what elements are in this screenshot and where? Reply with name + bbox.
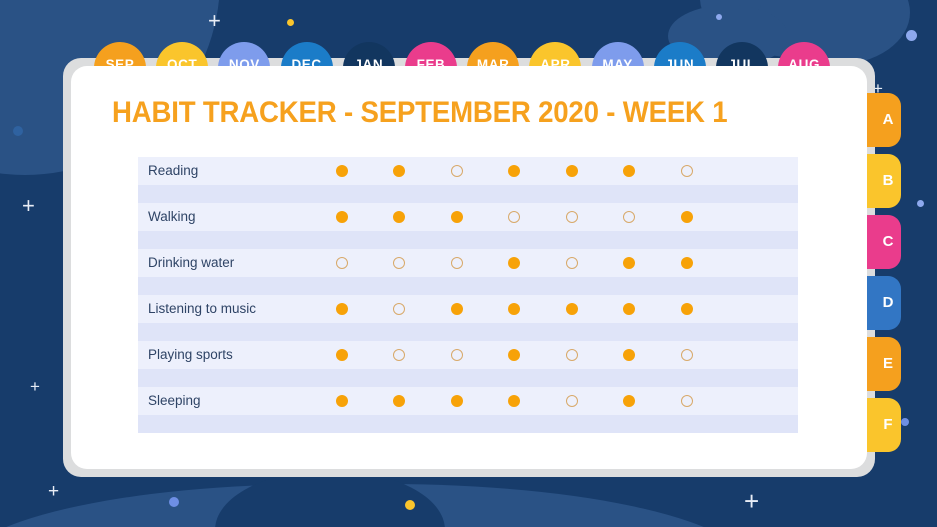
plus-icon: +: [744, 488, 759, 514]
habit-dot-filled-icon[interactable]: [393, 395, 405, 407]
habit-dot-filled-icon[interactable]: [623, 165, 635, 177]
habit-dot-filled-icon[interactable]: [508, 165, 520, 177]
habit-row: Listening to music: [138, 295, 798, 323]
side-tab-f[interactable]: F: [865, 398, 901, 452]
habit-day-cell[interactable]: [428, 303, 486, 315]
habit-dot-empty-icon[interactable]: [566, 257, 578, 269]
habit-dot-empty-icon[interactable]: [393, 303, 405, 315]
habit-dot-filled-icon[interactable]: [623, 395, 635, 407]
habit-dot-empty-icon[interactable]: [681, 349, 693, 361]
habit-row-spacer: [138, 415, 798, 433]
habit-dot-filled-icon[interactable]: [623, 349, 635, 361]
habit-day-cell[interactable]: [658, 211, 716, 223]
habit-day-cell[interactable]: [543, 303, 601, 315]
habit-day-cells: [313, 157, 716, 185]
side-tab-label: C: [883, 233, 894, 250]
habit-dot-filled-icon[interactable]: [566, 165, 578, 177]
habit-dot-filled-icon[interactable]: [336, 395, 348, 407]
habit-dot-empty-icon[interactable]: [681, 395, 693, 407]
habit-dot-empty-icon[interactable]: [451, 257, 463, 269]
habit-day-cell[interactable]: [601, 165, 659, 177]
habit-dot-empty-icon[interactable]: [566, 211, 578, 223]
habit-dot-filled-icon[interactable]: [336, 349, 348, 361]
habit-day-cell[interactable]: [428, 349, 486, 361]
habit-day-cell[interactable]: [601, 349, 659, 361]
habit-day-cell[interactable]: [601, 303, 659, 315]
habit-dot-empty-icon[interactable]: [451, 165, 463, 177]
habit-day-cell[interactable]: [601, 211, 659, 223]
circle-dot-icon: [716, 14, 722, 20]
habit-dot-filled-icon[interactable]: [681, 303, 693, 315]
habit-tracker-card: HABIT TRACKER - SEPTEMBER 2020 - WEEK 1 …: [71, 66, 867, 469]
habit-day-cells: [313, 387, 716, 415]
habit-day-cells: [313, 341, 716, 369]
habit-day-cell[interactable]: [486, 395, 544, 407]
habit-dot-filled-icon[interactable]: [336, 303, 348, 315]
habit-dot-filled-icon[interactable]: [451, 211, 463, 223]
habit-row: Sleeping: [138, 387, 798, 415]
habit-dot-filled-icon[interactable]: [451, 395, 463, 407]
side-tab-label: D: [883, 294, 894, 311]
habit-day-cell[interactable]: [313, 211, 371, 223]
habit-dot-empty-icon[interactable]: [623, 211, 635, 223]
habit-dot-empty-icon[interactable]: [336, 257, 348, 269]
circle-dot-icon: [13, 126, 23, 136]
habit-dot-empty-icon[interactable]: [566, 349, 578, 361]
habit-dot-empty-icon[interactable]: [681, 165, 693, 177]
habit-day-cell[interactable]: [371, 395, 429, 407]
habit-table: ReadingWalkingDrinking waterListening to…: [138, 157, 798, 433]
plus-icon: +: [48, 482, 59, 501]
habit-day-cell[interactable]: [486, 211, 544, 223]
habit-label: Reading: [148, 157, 198, 185]
plus-icon: +: [208, 10, 221, 32]
habit-dot-filled-icon[interactable]: [508, 395, 520, 407]
habit-day-cell[interactable]: [428, 257, 486, 269]
plus-icon: +: [22, 195, 35, 217]
habit-dot-filled-icon[interactable]: [566, 303, 578, 315]
circle-dot-icon: [287, 19, 294, 26]
side-tab-c[interactable]: C: [865, 215, 901, 269]
habit-row: Drinking water: [138, 249, 798, 277]
habit-row-spacer: [138, 323, 798, 341]
side-tab-e[interactable]: E: [865, 337, 901, 391]
habit-day-cell[interactable]: [428, 211, 486, 223]
habit-day-cell[interactable]: [543, 395, 601, 407]
habit-day-cell[interactable]: [428, 165, 486, 177]
side-tab-d[interactable]: D: [865, 276, 901, 330]
habit-dot-filled-icon[interactable]: [681, 257, 693, 269]
habit-day-cell[interactable]: [543, 165, 601, 177]
circle-dot-icon: [901, 418, 909, 426]
habit-row: Walking: [138, 203, 798, 231]
habit-dot-filled-icon[interactable]: [623, 303, 635, 315]
habit-dot-filled-icon[interactable]: [393, 165, 405, 177]
habit-dot-empty-icon[interactable]: [451, 349, 463, 361]
side-tab-label: B: [883, 172, 894, 189]
habit-day-cell[interactable]: [486, 257, 544, 269]
habit-dot-filled-icon[interactable]: [393, 211, 405, 223]
habit-day-cell[interactable]: [486, 165, 544, 177]
habit-label: Playing sports: [148, 341, 233, 369]
habit-day-cell[interactable]: [371, 257, 429, 269]
habit-day-cells: [313, 295, 716, 323]
habit-label: Drinking water: [148, 249, 234, 277]
habit-dot-filled-icon[interactable]: [623, 257, 635, 269]
habit-day-cell[interactable]: [371, 211, 429, 223]
habit-dot-empty-icon[interactable]: [566, 395, 578, 407]
side-tab-label: F: [883, 416, 892, 433]
habit-day-cell[interactable]: [658, 303, 716, 315]
habit-day-cell[interactable]: [486, 303, 544, 315]
habit-day-cell[interactable]: [658, 257, 716, 269]
habit-day-cell[interactable]: [658, 395, 716, 407]
habit-day-cells: [313, 249, 716, 277]
side-tab-b[interactable]: B: [865, 154, 901, 208]
side-tab-label: E: [883, 355, 893, 372]
habit-dot-empty-icon[interactable]: [393, 257, 405, 269]
habit-day-cell[interactable]: [543, 211, 601, 223]
habit-day-cell[interactable]: [371, 303, 429, 315]
habit-dot-filled-icon[interactable]: [508, 303, 520, 315]
plus-icon: +: [30, 378, 40, 395]
habit-day-cell[interactable]: [601, 395, 659, 407]
habit-day-cell[interactable]: [658, 349, 716, 361]
habit-dot-filled-icon[interactable]: [508, 257, 520, 269]
habit-dot-filled-icon[interactable]: [336, 165, 348, 177]
side-tab-a[interactable]: A: [865, 93, 901, 147]
habit-day-cells: [313, 203, 716, 231]
habit-dot-filled-icon[interactable]: [336, 211, 348, 223]
habit-day-cell[interactable]: [371, 165, 429, 177]
habit-row-spacer: [138, 185, 798, 203]
habit-row: Playing sports: [138, 341, 798, 369]
habit-dot-filled-icon[interactable]: [508, 349, 520, 361]
habit-day-cell[interactable]: [371, 349, 429, 361]
page-title: HABIT TRACKER - SEPTEMBER 2020 - WEEK 1: [112, 96, 727, 130]
habit-day-cell[interactable]: [428, 395, 486, 407]
habit-dot-empty-icon[interactable]: [508, 211, 520, 223]
blob-bottom-cutout: [215, 470, 445, 527]
circle-dot-icon: [405, 500, 415, 510]
habit-day-cell[interactable]: [313, 257, 371, 269]
habit-dot-filled-icon[interactable]: [681, 211, 693, 223]
habit-day-cell[interactable]: [601, 257, 659, 269]
habit-row-spacer: [138, 277, 798, 295]
habit-day-cell[interactable]: [313, 349, 371, 361]
circle-dot-icon: [169, 497, 179, 507]
habit-dot-empty-icon[interactable]: [393, 349, 405, 361]
circle-dot-icon: [906, 30, 917, 41]
side-tab-label: A: [883, 111, 894, 128]
habit-day-cell[interactable]: [658, 165, 716, 177]
habit-row: Reading: [138, 157, 798, 185]
habit-day-cell[interactable]: [313, 303, 371, 315]
habit-day-cell[interactable]: [543, 257, 601, 269]
habit-day-cell[interactable]: [486, 349, 544, 361]
habit-day-cell[interactable]: [543, 349, 601, 361]
habit-day-cell[interactable]: [313, 165, 371, 177]
habit-label: Walking: [148, 203, 196, 231]
habit-row-spacer: [138, 231, 798, 249]
habit-day-cell[interactable]: [313, 395, 371, 407]
circle-dot-icon: [917, 200, 924, 207]
habit-label: Listening to music: [148, 295, 256, 323]
habit-label: Sleeping: [148, 387, 201, 415]
habit-dot-filled-icon[interactable]: [451, 303, 463, 315]
habit-row-spacer: [138, 369, 798, 387]
